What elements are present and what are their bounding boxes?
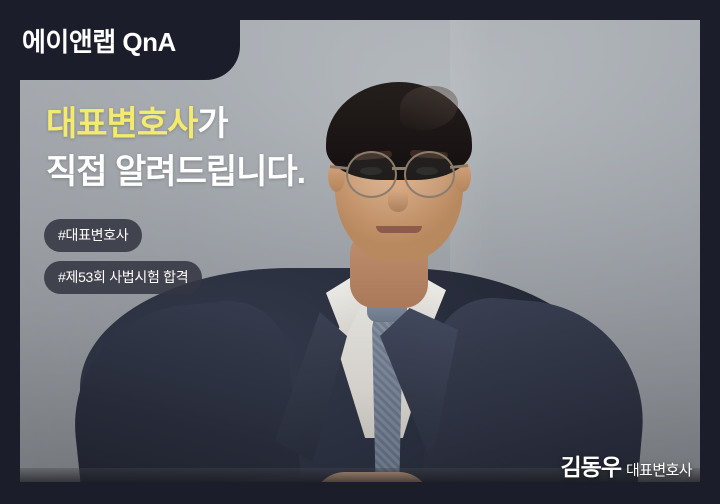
person-name: 김동우: [561, 448, 621, 482]
headline-line-1: 대표변호사가: [46, 100, 305, 148]
headline-accent-text: 대표변호사: [46, 105, 197, 143]
brand-logo-qna-text: QnA: [122, 27, 175, 57]
hashtag-pill[interactable]: #제53회 사법시험 합격: [44, 261, 202, 294]
hashtag-list: #대표변호사 #제53회 사법시험 합격: [44, 219, 202, 303]
hashtag-pill[interactable]: #대표변호사: [44, 219, 142, 252]
brand-logo-tab[interactable]: 에이앤랩 QnA: [0, 0, 240, 80]
suit-shoulder-left: [63, 295, 301, 482]
nose: [388, 178, 408, 212]
eyeglasses-bridge: [392, 167, 406, 170]
person-name-caption: 김동우 대표변호사: [561, 448, 693, 482]
headline-line-2: 직접 알려드립니다.: [46, 148, 305, 196]
person-role: 대표변호사: [626, 459, 692, 480]
mouth: [376, 226, 422, 233]
brand-logo-korean: 에이앤랩: [22, 27, 116, 57]
brand-logo-text: 에이앤랩 QnA: [22, 22, 176, 59]
headline-block: 대표변호사가 직접 알려드립니다.: [46, 100, 305, 197]
headline-particle-text: 가: [197, 105, 227, 143]
eyeglasses-lens-right: [404, 151, 455, 198]
promo-banner: 에이앤랩 QnA 대표변호사가 직접 알려드립니다. #대표변호사 #제53회 …: [0, 0, 720, 504]
